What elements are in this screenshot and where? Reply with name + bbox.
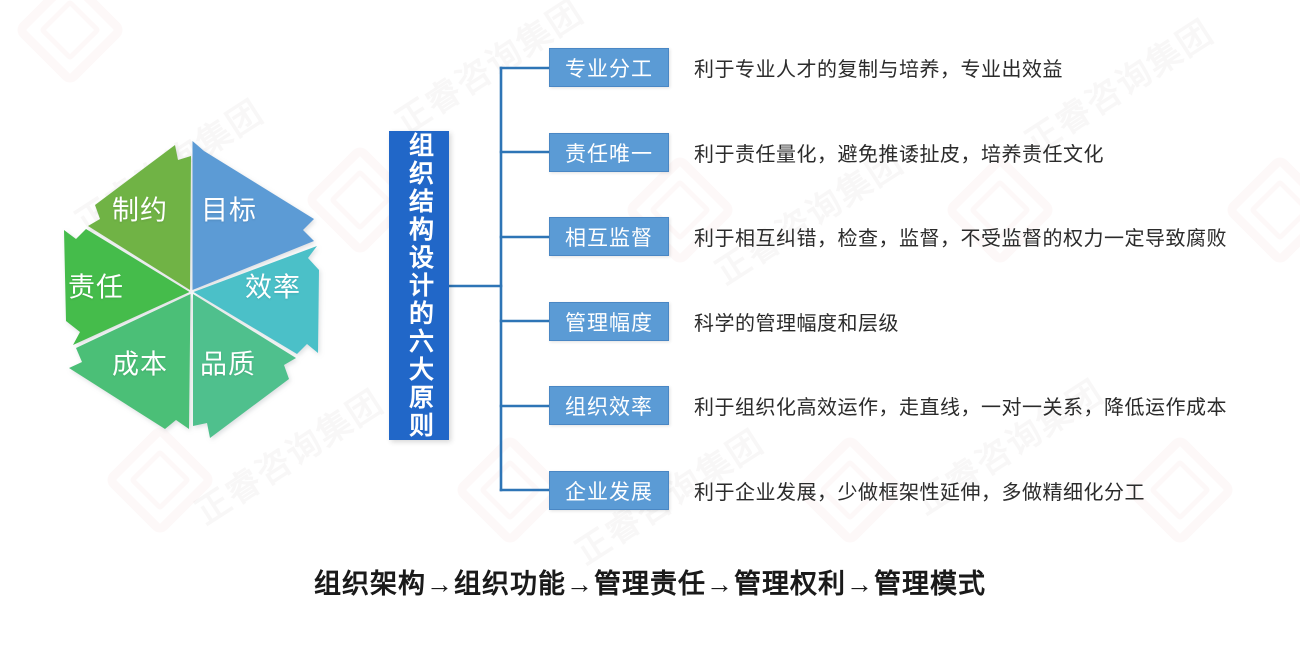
- principle-row-3[interactable]: 管理幅度 科学的管理幅度和层级: [549, 302, 899, 341]
- principle-row-0[interactable]: 专业分工 利于专业人才的复制与培养，专业出效益: [549, 48, 1063, 87]
- principle-desc-5: 利于企业发展，少做框架性延伸，多做精细化分工: [694, 476, 1145, 505]
- wheel-label-5: 制约: [112, 189, 168, 228]
- principle-desc-3: 科学的管理幅度和层级: [694, 307, 899, 336]
- center-title-box[interactable]: 组织结构设计的六大原则: [389, 131, 449, 440]
- principle-row-4[interactable]: 组织效率 利于组织化高效运作，走直线，一对一关系，降低运作成本: [549, 386, 1227, 425]
- principle-label-3[interactable]: 管理幅度: [549, 302, 669, 341]
- principle-row-1[interactable]: 责任唯一 利于责任量化，避免推诿扯皮，培养责任文化: [549, 133, 1104, 172]
- wheel-label-4: 责任: [68, 266, 124, 305]
- footer-chain-text: 组织架构→组织功能→管理责任→管理权利→管理模式: [0, 562, 1300, 601]
- principle-desc-4: 利于组织化高效运作，走直线，一对一关系，降低运作成本: [694, 391, 1227, 420]
- principle-row-5[interactable]: 企业发展 利于企业发展，少做框架性延伸，多做精细化分工: [549, 471, 1145, 510]
- principle-desc-2: 利于相互纠错，检查，监督，不受监督的权力一定导致腐败: [694, 222, 1227, 251]
- wheel-label-1: 效率: [245, 266, 301, 305]
- principle-label-4[interactable]: 组织效率: [549, 386, 669, 425]
- watermark-ring-icon: [1223, 153, 1300, 266]
- center-title-text: 组织结构设计的六大原则: [407, 132, 432, 440]
- principle-desc-0: 利于专业人才的复制与培养，专业出效益: [694, 53, 1063, 82]
- principle-label-0[interactable]: 专业分工: [549, 48, 669, 87]
- principle-desc-1: 利于责任量化，避免推诿扯皮，培养责任文化: [694, 138, 1104, 167]
- principle-row-2[interactable]: 相互监督 利于相互纠错，检查，监督，不受监督的权力一定导致腐败: [549, 217, 1227, 256]
- wheel-label-3: 成本: [112, 343, 168, 382]
- watermark-ring-icon: [13, 0, 126, 87]
- principle-label-5[interactable]: 企业发展: [549, 471, 669, 510]
- principle-label-2[interactable]: 相互监督: [549, 217, 669, 256]
- principle-label-1[interactable]: 责任唯一: [549, 133, 669, 172]
- wheel-label-2: 品质: [200, 343, 256, 382]
- wheel-label-0: 目标: [201, 189, 257, 228]
- six-dimension-wheel: 目标 效率 品质 成本 责任 制约: [18, 118, 363, 463]
